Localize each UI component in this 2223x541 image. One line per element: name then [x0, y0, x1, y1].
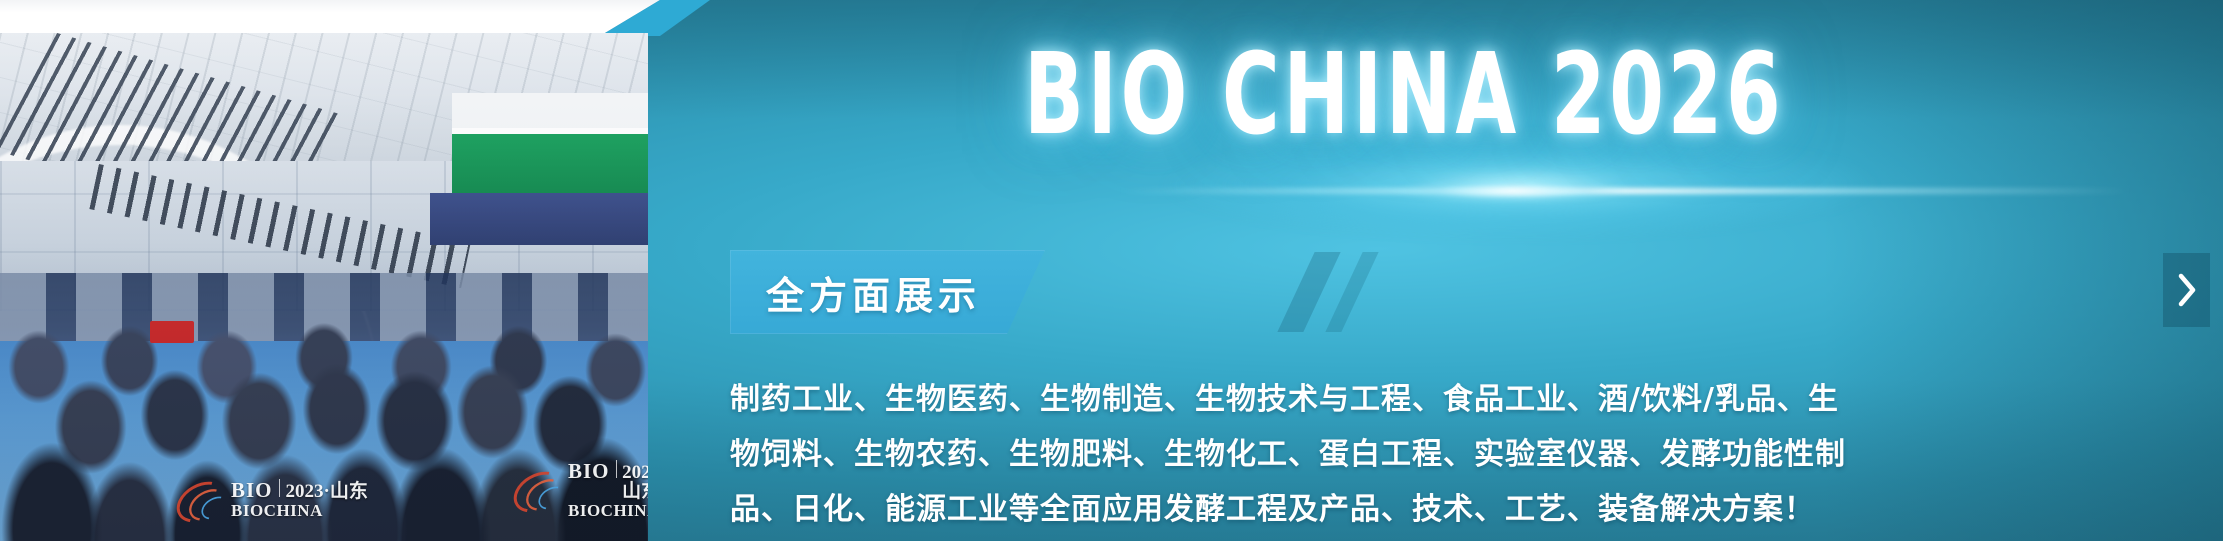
description-line-3: 品、日化、能源工业等全面应用发酵工程及产品、技术、工艺、装备解决方案！ [730, 482, 2040, 537]
watermark-brand: BIO [231, 480, 273, 501]
watermark-year: 2023·山东 [286, 482, 368, 501]
watermark-subbrand: BIOCHINA [568, 502, 648, 519]
banner-title: BIO CHINA 2026 [1024, 40, 1784, 152]
bio-swoosh-icon [175, 484, 223, 514]
description-line-2: 物饲料、生物农药、生物肥料、生物化工、蛋白工程、实验室仪器、发酵功能性制 [730, 427, 2040, 482]
promo-banner: BIO 2023·山东 BIOCHINA BIO 2023·山东 BIOCHIN… [0, 0, 2223, 541]
photo-watermark-left: BIO 2023·山东 BIOCHINA [175, 479, 368, 519]
watermark-brand: BIO [568, 461, 610, 482]
photo-watermark-right: BIO 2023·山东 BIOCHINA [512, 460, 648, 519]
tagline-label: 全方面展示 [766, 265, 981, 320]
tagline-wrapper: 全方面展示 [730, 250, 1045, 334]
tagline-badge: 全方面展示 [730, 250, 1045, 334]
watermark-divider [279, 479, 280, 497]
watermark-text: BIO 2023·山东 BIOCHINA [231, 479, 368, 519]
bio-swoosh-icon [512, 474, 560, 504]
next-slide-button[interactable] [2163, 253, 2210, 327]
exhibition-photo: BIO 2023·山东 BIOCHINA BIO 2023·山东 BIOCHIN… [0, 33, 648, 541]
description-line-1: 制药工业、生物医药、生物制造、生物技术与工程、食品工业、酒/饮料/乳品、生 [730, 372, 2040, 427]
watermark-divider [616, 460, 617, 478]
banner-content: BIO CHINA 2026 全方面展示 制药工业、生物医药、生物制造、生物技术… [720, 0, 2120, 541]
watermark-subbrand: BIOCHINA [231, 502, 368, 519]
top-white-wedge [0, 0, 690, 36]
chevron-right-icon [2176, 272, 2198, 308]
watermark-text: BIO 2023·山东 BIOCHINA [568, 460, 648, 519]
banner-description: 制药工业、生物医药、生物制造、生物技术与工程、食品工业、酒/饮料/乳品、生 物饲… [730, 372, 2040, 537]
watermark-year: 2023·山东 [622, 463, 648, 502]
